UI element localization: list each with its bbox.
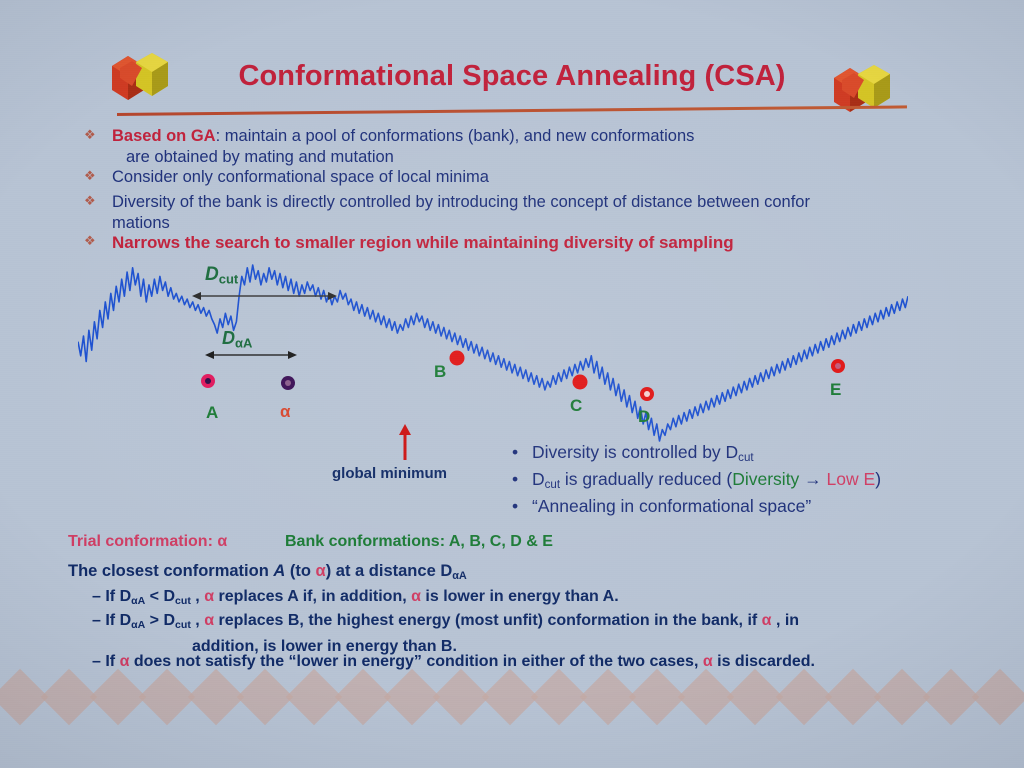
closest-sub: αA [452,570,467,582]
r2-alpha2: α [762,612,772,629]
bullet-text-4: Narrows the search to smaller region whi… [112,232,954,253]
bullet-text-2: Consider only conformational space of lo… [112,167,934,188]
bullet-marker-icon: ❖ [84,234,96,247]
slide-title: Conformational Space Annealing (CSA) [0,60,1024,93]
r1-tail2: is lower in energy than A. [421,588,619,605]
bullet-marker-icon: ❖ [84,194,96,207]
r2-sub1: αA [131,619,145,631]
dcut-arrow-icon [192,288,337,304]
closest-alpha: α [316,562,326,580]
point-label-E: E [830,380,841,400]
rule-line-1: – If DαA < Dcut , α replaces A if, in ad… [92,586,619,612]
chart-marker-inner-α [285,380,291,386]
rb2-post: is gradually reduced ( [560,469,732,489]
r3-tail2: is discarded. [713,653,815,670]
r1-dash: – If D [92,588,131,605]
r2-alpha: α [204,612,214,629]
global-minimum-arrow-icon [396,424,414,460]
bullet-item-3: ❖ Diversity of the bank is directly cont… [84,192,954,234]
dcut-base: D [205,264,219,285]
chart-marker-B [450,351,465,366]
point-label-B: B [434,362,446,382]
r1-alpha2: α [411,588,421,605]
bullet-text-3: Diversity of the bank is directly contro… [112,192,954,234]
rb1-pre: Diversity is controlled by D [532,442,738,462]
r1-alpha: α [204,588,214,605]
bullet-3-rest: Diversity of the bank is directly contro… [112,193,810,211]
rb2-pre: D [532,469,545,489]
bullet-3-line2: mations [112,214,170,232]
closest-mid: (to [285,562,315,580]
daa-base: D [222,328,235,348]
bullet-marker-icon: ❖ [84,128,96,141]
r3-alpha2: α [703,653,713,670]
energy-landscape-chart [78,258,908,448]
bullet-text-1: Based on GA: maintain a pool of conforma… [112,126,934,168]
r3-dash: – If [92,653,120,670]
closest-A: A [273,562,285,580]
r1-mid: , [191,588,204,605]
bullet-item-4: ❖ Narrows the search to smaller region w… [84,232,954,253]
rb2-tail: ) [875,469,881,489]
chart-marker-inner-D [644,391,650,397]
global-minimum-caption: global minimum [332,465,447,482]
point-label-alpha: α [280,402,290,422]
bullet-dot-icon: • [512,440,518,465]
r2-tail: replaces B, the highest energy (most unf… [214,612,762,629]
decorative-diamond [972,669,1024,726]
decorative-diamond-border [0,676,1024,718]
r1-op: < D [145,588,175,605]
bullet-1-rest: : maintain a pool of conformations (bank… [216,127,695,145]
r2-mid: , [191,612,204,629]
r1-tail: replaces A if, in addition, [214,588,411,605]
bullet-item-2: ❖ Consider only conformational space of … [84,167,934,188]
point-label-D: D [638,407,650,427]
rb2-arrow-icon: → [799,469,826,489]
bullet-1-lead: Based on GA [112,127,216,145]
dalphaA-arrow-icon [205,347,297,363]
r2-dash: – If D [92,612,131,629]
right-bullet-3-text: “Annealing in conformational space” [532,494,811,519]
title-underline-rule [117,105,907,116]
r2-op: > D [145,612,175,629]
rule-line-3: – If α does not satisfy the “lower in en… [92,651,992,673]
rb2-pink: Low E [827,469,876,489]
dcut-sub: cut [219,272,239,287]
bullet-dot-icon: • [512,467,518,492]
landscape-svg [78,258,908,448]
point-label-A: A [206,403,218,423]
rb1-sub: cut [738,452,753,464]
bank-conformations-label: Bank conformations: A, B, C, D & E [285,533,553,551]
r2-sub2: cut [175,619,191,631]
chart-marker-inner-A [205,378,211,384]
r1-sub2: cut [175,595,191,607]
bullet-1-line2: are obtained by mating and mutation [126,147,394,168]
point-label-C: C [570,396,582,416]
rb2-sub: cut [545,479,560,491]
dcut-label: Dcut [205,264,238,287]
closest-conformation-line: The closest conformation A (to α) at a d… [68,562,467,582]
closest-pre: The closest conformation [68,562,273,580]
trial-conformation-label: Trial conformation: α [68,533,227,551]
r3-alpha: α [120,653,130,670]
chart-marker-C [573,375,588,390]
r1-sub1: αA [131,595,145,607]
bullet-item-1: ❖ Based on GA: maintain a pool of confor… [84,126,934,168]
r2-tail2: , in [772,612,800,629]
closest-post: ) at a distance D [326,562,453,580]
rb2-green: Diversity [732,469,799,489]
slide-canvas: Conformational Space Annealing (CSA) ❖ B… [0,0,1024,768]
chart-marker-inner-E [835,363,841,369]
right-bullet-3: • “Annealing in conformational space” [512,494,811,519]
bullet-dot-icon: • [512,494,518,519]
bullet-marker-icon: ❖ [84,169,96,182]
